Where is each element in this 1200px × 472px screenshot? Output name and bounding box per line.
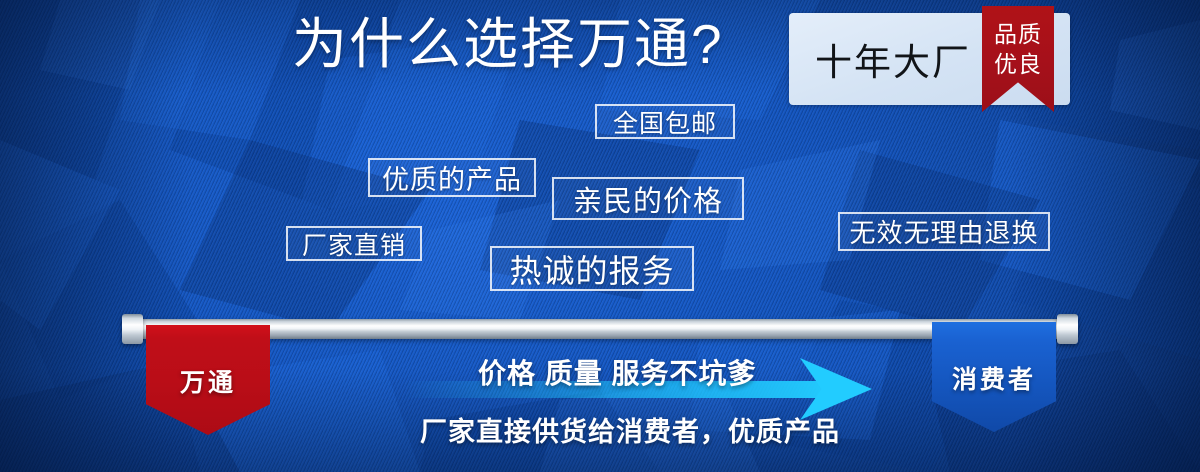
flag-consumer-label: 消费者 [952, 360, 1036, 396]
flag-manufacturer-label: 万通 [180, 363, 236, 399]
ribbon-line-2: 优良 [982, 45, 1054, 79]
feature-tag: 热诚的报务 [490, 246, 694, 291]
quality-ribbon: 品质 优良 [982, 6, 1054, 112]
feature-tag: 全国包邮 [595, 104, 735, 139]
page-title: 为什么选择万通? [292, 14, 724, 76]
feature-tag: 优质的产品 [368, 158, 536, 197]
badge-title: 十年大厂 [815, 32, 971, 86]
ribbon-line-1: 品质 [982, 15, 1054, 49]
value-proposition-line: 价格 质量 服务不坑爹 [478, 352, 757, 392]
feature-tag: 无效无理由退换 [838, 212, 1050, 251]
rod-cap-right [1057, 314, 1078, 344]
quality-badge: 十年大厂 品质 优良 [789, 13, 1070, 105]
feature-tag: 厂家直销 [286, 226, 422, 261]
rod-cap-left [122, 314, 143, 344]
supply-description-line: 厂家直接供货给消费者，优质产品 [420, 410, 840, 449]
supply-chain-rod [130, 319, 1070, 339]
promo-banner: 为什么选择万通? 十年大厂 品质 优良 全国包邮优质的产品亲民的价格厂家直销热诚… [0, 0, 1200, 472]
feature-tag: 亲民的价格 [552, 177, 744, 220]
